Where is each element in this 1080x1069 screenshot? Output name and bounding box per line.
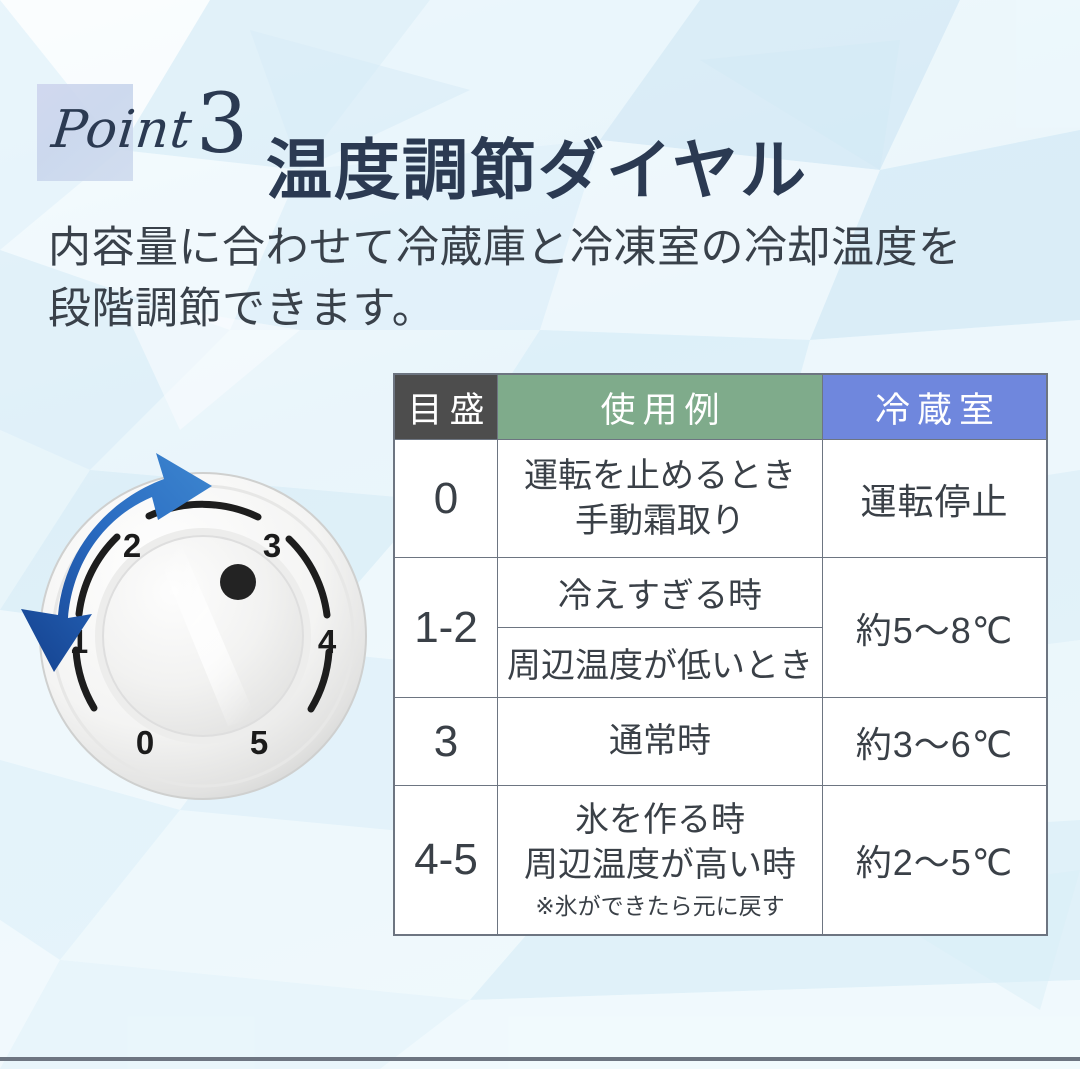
table-row: 0 運転を止めるとき 手動霜取り 運転停止 (395, 440, 1047, 558)
usage-line: 周辺温度が低いとき (498, 628, 822, 698)
promo-page: Point 3 温度調節ダイヤル 内容量に合わせて冷蔵庫と冷凍室の冷却温度を 段… (0, 0, 1080, 1069)
bottom-clipped-caption: 冷蔵庫 冷凍庫 小型 一人暮らし 4ドア 冷凍冷蔵庫 新生活 霜取り (60, 1061, 1060, 1069)
temperature-control-dial: 0 1 2 3 4 5 (6, 396, 398, 826)
table-header-row: 目盛 使用例 冷蔵室 (395, 375, 1047, 440)
cell-scale: 4-5 (395, 786, 498, 935)
cell-scale: 1-2 (395, 558, 498, 698)
table-row: 4-5 氷を作る時 周辺温度が高い時 ※氷ができたら元に戻す 約2～5℃ (395, 786, 1047, 935)
lead-line-1: 内容量に合わせて冷蔵庫と冷凍室の冷却温度を (48, 218, 1038, 279)
cell-fridge-temp: 約3～6℃ (823, 698, 1047, 786)
column-header-scale: 目盛 (395, 375, 498, 440)
dial-mark-0: 0 (136, 724, 154, 761)
point-label: Point (49, 104, 195, 156)
usage-line: 周辺温度が高い時 (504, 843, 816, 888)
usage-line: 冷えすぎる時 (498, 558, 822, 628)
usage-line: 通常時 (504, 719, 816, 764)
usage-line: 運転を止めるとき (504, 454, 816, 499)
usage-subrow: 冷えすぎる時 (498, 558, 822, 628)
usage-subrow: 周辺温度が低いとき (498, 628, 822, 698)
lead-line-2: 段階調節できます。 (48, 279, 1038, 340)
usage-line: 手動霜取り (504, 499, 816, 544)
temperature-setting-table: 目盛 使用例 冷蔵室 0 運転を止めるとき 手動霜取り 運転停止 1-2 (394, 374, 1047, 935)
dial-mark-4: 4 (318, 623, 337, 660)
dial-mark-2: 2 (123, 527, 141, 564)
table-row: 1-2 冷えすぎる時 周辺温度が低いとき 約5～8℃ (395, 558, 1047, 698)
column-header-usage: 使用例 (498, 375, 823, 440)
usage-note: ※氷ができたら元に戻す (504, 890, 816, 922)
lead-paragraph: 内容量に合わせて冷蔵庫と冷凍室の冷却温度を 段階調節できます。 (48, 218, 1038, 340)
usage-subtable: 冷えすぎる時 周辺温度が低いとき (498, 558, 822, 697)
page-title: 温度調節ダイヤル (266, 136, 808, 205)
table-row: 3 通常時 約3～6℃ (395, 698, 1047, 786)
cell-scale: 0 (395, 440, 498, 558)
cell-fridge-temp: 約5～8℃ (823, 558, 1047, 698)
cell-scale: 3 (395, 698, 498, 786)
dial-mark-5: 5 (250, 724, 268, 761)
usage-line: 氷を作る時 (504, 798, 816, 843)
cell-usage: 運転を止めるとき 手動霜取り (498, 440, 823, 558)
cell-fridge-temp: 約2～5℃ (823, 786, 1047, 935)
dial-indicator-dot (220, 564, 256, 600)
cell-usage: 氷を作る時 周辺温度が高い時 ※氷ができたら元に戻す (498, 786, 823, 935)
cell-fridge-temp: 運転停止 (823, 440, 1047, 558)
dial-mark-3: 3 (263, 527, 281, 564)
column-header-fridge: 冷蔵室 (823, 375, 1047, 440)
cell-usage: 冷えすぎる時 周辺温度が低いとき (498, 558, 823, 698)
cell-usage: 通常時 (498, 698, 823, 786)
point-number: 3 (196, 84, 248, 166)
